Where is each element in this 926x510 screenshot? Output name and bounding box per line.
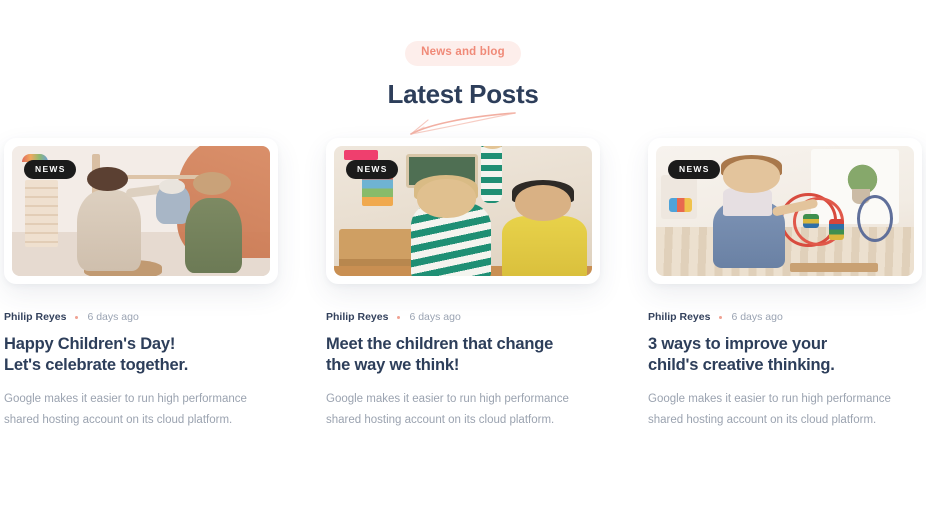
post-date: 6 days ago (87, 312, 138, 323)
underline-swoosh-decoration (0, 110, 926, 136)
news-badge: NEWS (668, 160, 720, 179)
post-excerpt: Google makes it easier to run high perfo… (648, 389, 922, 430)
post-excerpt: Google makes it easier to run high perfo… (326, 389, 600, 430)
post-date: 6 days ago (731, 312, 782, 323)
post-meta: Philip Reyes 6 days ago (326, 312, 600, 323)
post-title[interactable]: Happy Children's Day! Let's celebrate to… (4, 334, 278, 378)
post-meta: Philip Reyes 6 days ago (4, 312, 278, 323)
post-title[interactable]: Meet the children that change the way we… (326, 334, 600, 378)
post-image[interactable]: NEWS (656, 146, 914, 276)
post-image-frame[interactable]: NEWS (326, 138, 600, 284)
meta-separator-dot (75, 316, 78, 319)
post-excerpt: Google makes it easier to run high perfo… (4, 389, 278, 430)
news-badge: NEWS (24, 160, 76, 179)
page-title: Latest Posts (0, 80, 926, 109)
post-card[interactable]: NEWS Philip Reyes 6 days ago Meet the ch… (326, 138, 600, 430)
post-image-frame[interactable]: NEWS (648, 138, 922, 284)
section-eyebrow-badge: News and blog (405, 41, 521, 66)
post-author: Philip Reyes (4, 312, 66, 323)
post-date: 6 days ago (409, 312, 460, 323)
posts-grid: NEWS Philip Reyes 6 days ago Happy Child… (0, 138, 926, 430)
section-header: News and blog Latest Posts (0, 0, 926, 136)
post-meta: Philip Reyes 6 days ago (648, 312, 922, 323)
meta-separator-dot (719, 316, 722, 319)
post-author: Philip Reyes (648, 312, 710, 323)
swoosh-icon (408, 110, 518, 136)
post-title[interactable]: 3 ways to improve your child's creative … (648, 334, 922, 378)
post-card[interactable]: NEWS Philip Reyes 6 days ago 3 ways to i… (648, 138, 922, 430)
meta-separator-dot (397, 316, 400, 319)
post-card[interactable]: NEWS Philip Reyes 6 days ago Happy Child… (4, 138, 278, 430)
blog-section: News and blog Latest Posts (0, 0, 926, 510)
post-image[interactable]: NEWS (334, 146, 592, 276)
post-image[interactable]: NEWS (12, 146, 270, 276)
news-badge: NEWS (346, 160, 398, 179)
post-image-frame[interactable]: NEWS (4, 138, 278, 284)
post-author: Philip Reyes (326, 312, 388, 323)
